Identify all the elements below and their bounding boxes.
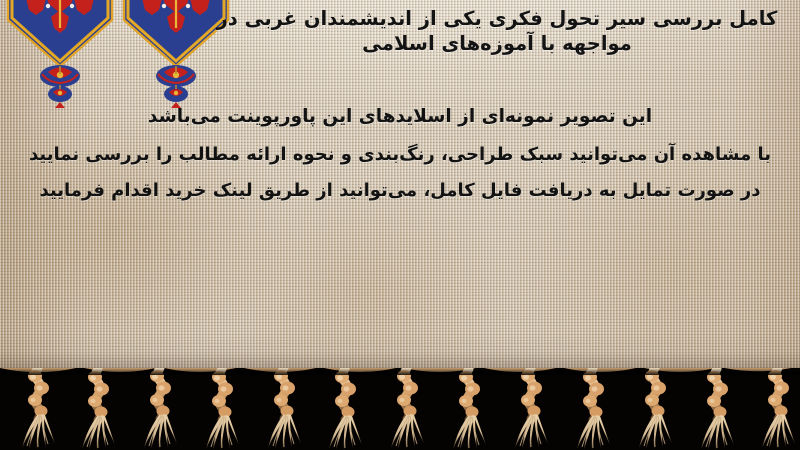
carpet-fringe-band <box>0 368 800 450</box>
slide-title-line-2: مواجهه با آموزه‌های اسلامی <box>212 31 782 56</box>
slide-body-line-3: در صورت تمایل به دریافت فایل کامل، می‌تو… <box>6 182 794 200</box>
slide-title: کامل بررسی سیر تحول فکری یکی از اندیشمند… <box>212 6 782 57</box>
slide-canvas: کامل بررسی سیر تحول فکری یکی از اندیشمند… <box>0 0 800 450</box>
slide-title-line-1: کامل بررسی سیر تحول فکری یکی از اندیشمند… <box>212 6 782 31</box>
slide-body-line-1: این تصویر نمونه‌ای از اسلایدهای این پاور… <box>6 108 794 127</box>
slide-body: این تصویر نمونه‌ای از اسلایدهای این پاور… <box>6 108 794 200</box>
slide-body-line-2: با مشاهده آن می‌توانید سبک طراحی، رنگ‌بن… <box>6 146 794 164</box>
carpet-fringe-tassels-icon <box>0 368 800 450</box>
